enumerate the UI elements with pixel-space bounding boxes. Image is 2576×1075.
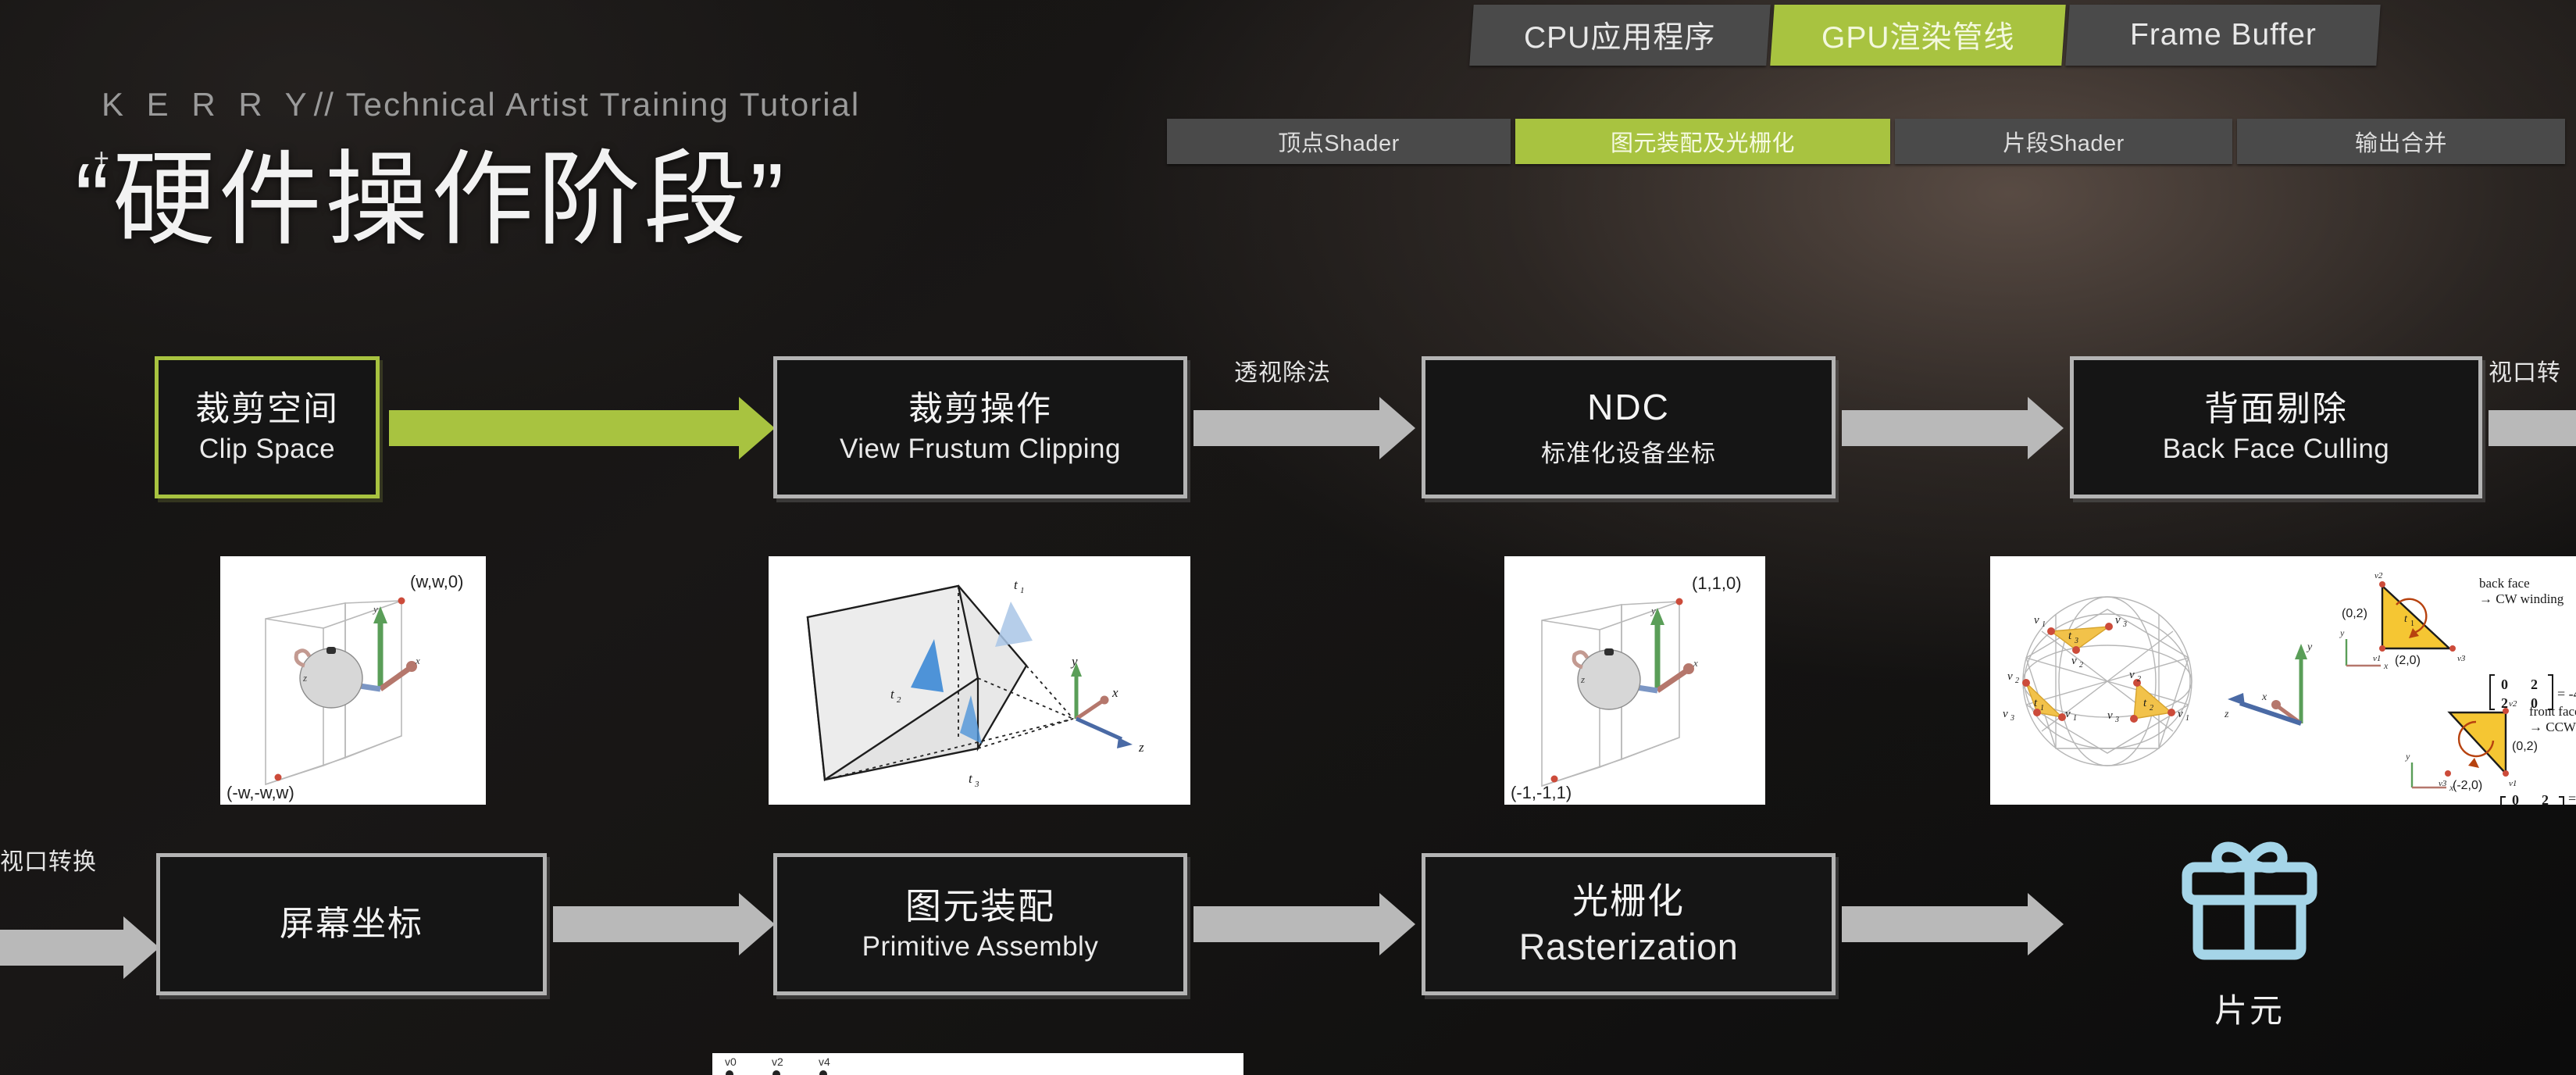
deck-kicker: K E R R Y// Technical Artist Training Tu…	[102, 86, 860, 123]
arrow-shaft	[553, 906, 742, 942]
arrow-head	[2028, 397, 2064, 459]
svg-text:1: 1	[1020, 586, 1025, 595]
bottom-strip-diagram: v0v2v4	[712, 1053, 1243, 1075]
svg-text:v2: v2	[2509, 699, 2517, 709]
arrow-head	[1379, 893, 1415, 955]
svg-text:v0: v0	[725, 1055, 737, 1068]
back-face-diagram: v1 v3 v2 v2 v3 v1 v2 v3 v1 t3 t1 t2 yxz	[1990, 556, 2576, 805]
arrow-clip-to-clipping	[389, 410, 780, 446]
svg-text:(2,0): (2,0)	[2395, 654, 2421, 667]
svg-text:v: v	[2115, 614, 2121, 627]
stage-label-cn: 图元装配	[905, 885, 1055, 927]
nav-item-cpu-application[interactable]: CPU应用程序	[1469, 5, 1770, 66]
arrow-label-viewport-transform-left: 视口转换	[0, 842, 97, 877]
svg-text:v: v	[2065, 708, 2071, 720]
pipeline-nav-row-1: CPU应用程序 GPU渲染管线 Frame Buffer	[1472, 5, 2382, 66]
svg-text:(-1,-1,1): (-1,-1,1)	[1511, 783, 1572, 802]
slide-canvas: CPU应用程序 GPU渲染管线 Frame Buffer 顶点Shader 图元…	[0, 0, 2576, 1075]
arrow-label-perspective-divide: 透视除法	[1234, 353, 1331, 387]
nav-item-vertex-shader[interactable]: 顶点Shader	[1167, 119, 1511, 164]
arrow-shaft	[1842, 906, 2031, 942]
nav-item-label: Frame Buffer	[2130, 18, 2317, 52]
fragment-label: 片元	[2214, 984, 2285, 1032]
nav-item-output-merger[interactable]: 输出合并	[2237, 119, 2565, 164]
arrow-backface-to-viewport	[2489, 410, 2576, 446]
clip-space-diagram: yxz (w,w,0) (-w,-w,w)	[220, 556, 486, 805]
svg-text:v: v	[2034, 614, 2039, 627]
svg-text:(-w,-w,w): (-w,-w,w)	[227, 783, 294, 802]
arrow-head	[739, 893, 775, 955]
svg-text:y: y	[2405, 751, 2410, 762]
svg-text:3: 3	[2074, 637, 2078, 645]
arrow-primitive-to-raster	[1193, 906, 1420, 942]
svg-text:x: x	[2261, 691, 2267, 703]
nav-item-primitive-assembly-raster[interactable]: 图元装配及光栅化	[1515, 119, 1890, 164]
stage-rasterization[interactable]: 光栅化 Rasterization	[1422, 853, 1836, 995]
figure-clip-space: yxz (w,w,0) (-w,-w,w)	[220, 556, 486, 805]
svg-text:(0,2): (0,2)	[2342, 607, 2367, 620]
brand-name: K E R R Y	[102, 86, 314, 123]
stage-back-face-culling[interactable]: 背面剔除 Back Face Culling	[2070, 356, 2482, 498]
svg-text:v2: v2	[772, 1055, 783, 1068]
svg-text:(0,2): (0,2)	[2512, 740, 2538, 753]
svg-text:1: 1	[2040, 704, 2044, 712]
svg-text:3: 3	[2010, 714, 2014, 723]
svg-text:v4: v4	[819, 1055, 830, 1068]
arrow-screen-to-primitive	[553, 906, 780, 942]
svg-text:= -4: = -4	[2557, 686, 2576, 702]
svg-text:v: v	[2007, 670, 2013, 683]
nav-item-fragment-shader[interactable]: 片段Shader	[1895, 119, 2232, 164]
gift-icon	[2171, 825, 2328, 981]
svg-text:2: 2	[897, 695, 901, 705]
svg-text:v1: v1	[2373, 654, 2381, 663]
arrow-shaft	[1193, 906, 1383, 942]
arrow-shaft	[0, 930, 127, 966]
svg-text:1: 1	[2185, 714, 2189, 723]
svg-text:0: 0	[2501, 677, 2508, 692]
svg-text:v2: v2	[2374, 571, 2383, 580]
svg-text:→ CCW winding: → CCW winding	[2529, 720, 2576, 734]
figure-bottom-strip: v0v2v4	[712, 1053, 1243, 1075]
nav-item-label: 片段Shader	[2003, 125, 2125, 158]
svg-text:v: v	[2071, 655, 2077, 667]
arrow-ndc-to-backface	[1842, 410, 2068, 446]
svg-text:x: x	[1693, 657, 1698, 669]
arrow-shaft	[389, 410, 742, 446]
figure-view-frustum: t1 t2 t3 yxz	[769, 556, 1190, 805]
svg-text:v: v	[2178, 708, 2183, 720]
stage-ndc[interactable]: NDC 标准化设备坐标	[1422, 356, 1836, 498]
svg-text:2: 2	[2150, 704, 2153, 712]
svg-text:v1: v1	[2509, 779, 2517, 788]
arrow-viewport-to-screen	[0, 930, 162, 966]
svg-text:1: 1	[2042, 620, 2046, 629]
svg-text:v3: v3	[2457, 654, 2466, 663]
nav-item-label: 顶点Shader	[1278, 125, 1400, 158]
svg-text:v: v	[2003, 708, 2008, 720]
svg-text:(1,1,0): (1,1,0)	[1692, 573, 1742, 593]
stage-label-en: Primitive Assembly	[862, 930, 1099, 963]
arrow-head	[739, 397, 775, 459]
stage-primitive-assembly[interactable]: 图元装配 Primitive Assembly	[773, 853, 1187, 995]
nav-item-label: 输出合并	[2355, 125, 2447, 158]
nav-item-label: GPU渲染管线	[1821, 13, 2015, 57]
stage-label-cn: 裁剪操作	[908, 389, 1052, 430]
nav-item-frame-buffer[interactable]: Frame Buffer	[2065, 5, 2380, 66]
frustum-diagram: t1 t2 t3 yxz	[769, 556, 1190, 805]
svg-text:(-2,0): (-2,0)	[2453, 779, 2482, 792]
brand-separator: //	[314, 86, 335, 123]
arrow-clipping-to-ndc	[1193, 410, 1420, 446]
stage-label-cn-sub: 标准化设备坐标	[1541, 434, 1716, 469]
svg-text:v: v	[2107, 709, 2113, 722]
svg-text:x: x	[2449, 782, 2454, 793]
svg-text:x: x	[415, 655, 420, 666]
svg-text:(w,w,0): (w,w,0)	[410, 572, 463, 591]
svg-text:y: y	[2339, 627, 2345, 638]
svg-text:front face: front face	[2529, 704, 2576, 719]
svg-text:2: 2	[2015, 677, 2019, 685]
nav-item-label: CPU应用程序	[1524, 13, 1715, 57]
svg-text:→ CW winding: → CW winding	[2479, 591, 2564, 606]
svg-text:2: 2	[2079, 661, 2083, 670]
svg-text:y: y	[372, 603, 378, 615]
svg-text:2: 2	[2531, 677, 2538, 692]
stage-label-cn: 光栅化	[1572, 880, 1685, 922]
ndc-diagram: yxz (1,1,0) (-1,-1,1)	[1504, 556, 1765, 805]
stage-label-en: Back Face Culling	[2163, 433, 2390, 466]
svg-text:x: x	[1111, 685, 1119, 700]
svg-text:z: z	[1580, 673, 1585, 685]
stage-label-en: Clip Space	[199, 433, 335, 466]
figure-back-face-culling: v1 v3 v2 v2 v3 v1 v2 v3 v1 t3 t1 t2 yxz	[1990, 556, 2576, 805]
page-title: “硬件操作阶段”	[75, 142, 787, 258]
svg-text:1: 1	[2410, 620, 2414, 628]
arrow-raster-to-fragment	[1842, 906, 2068, 942]
deck-subtitle: Technical Artist Training Tutorial	[346, 86, 861, 123]
stage-label-en: Rasterization	[1519, 925, 1739, 969]
arrow-shaft	[1193, 410, 1383, 446]
svg-text:z: z	[302, 672, 307, 684]
svg-text:z: z	[2224, 709, 2229, 720]
svg-text:v: v	[2129, 669, 2135, 681]
svg-text:y: y	[2306, 641, 2313, 653]
arrow-head	[1379, 397, 1415, 459]
svg-text:2: 2	[2137, 675, 2141, 684]
svg-text:y: y	[1070, 654, 1078, 669]
arrow-head	[123, 916, 159, 979]
fragment-output: 片元	[2156, 825, 2343, 1032]
svg-text:y: y	[1650, 605, 1656, 616]
svg-text:z: z	[1138, 740, 1144, 755]
arrow-head	[2028, 893, 2064, 955]
arrow-label-viewport-transform-right: 视口转	[2489, 353, 2561, 387]
svg-text:= 4: = 4	[2568, 791, 2576, 805]
svg-text:3: 3	[974, 780, 979, 789]
arrow-shaft	[2489, 410, 2576, 446]
svg-text:3: 3	[2114, 716, 2119, 724]
stage-screen-coordinates[interactable]: 屏幕坐标	[156, 853, 547, 995]
stage-label-cn: NDC	[1587, 386, 1670, 428]
stage-clip-space[interactable]: 裁剪空间 Clip Space	[155, 356, 380, 498]
stage-view-frustum-clipping[interactable]: 裁剪操作 View Frustum Clipping	[773, 356, 1187, 498]
svg-text:0: 0	[2512, 792, 2519, 805]
stage-label-cn: 背面剔除	[2204, 389, 2348, 430]
figure-ndc: yxz (1,1,0) (-1,-1,1)	[1504, 556, 1765, 805]
nav-item-label: 图元装配及光栅化	[1611, 125, 1795, 158]
svg-text:back face: back face	[2479, 576, 2530, 591]
svg-text:1: 1	[2073, 714, 2077, 723]
nav-item-gpu-pipeline[interactable]: GPU渲染管线	[1770, 5, 2065, 66]
stage-label-cn: 屏幕坐标	[280, 904, 423, 945]
stage-label-en: View Frustum Clipping	[840, 433, 1121, 466]
stage-label-cn: 裁剪空间	[195, 389, 339, 430]
svg-text:3: 3	[2122, 620, 2127, 629]
arrow-shaft	[1842, 410, 2031, 446]
svg-text:x: x	[2383, 660, 2389, 671]
pipeline-nav-row-2: 顶点Shader 图元装配及光栅化 片段Shader 输出合并	[1167, 119, 2570, 164]
svg-text:2: 2	[2542, 792, 2549, 805]
